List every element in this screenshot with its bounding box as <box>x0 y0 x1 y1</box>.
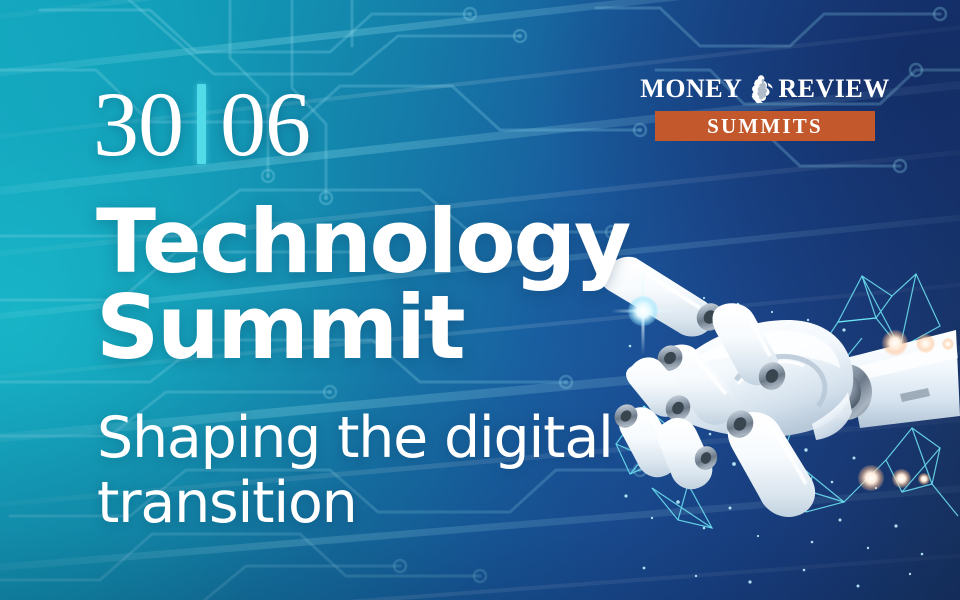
logo-word-review: REVIEW <box>778 76 889 102</box>
event-date: 30 06 <box>93 78 310 170</box>
status-badge: SUMMITS <box>655 111 875 141</box>
event-date-day: 30 <box>93 80 183 168</box>
summits-badge-label: SUMMITS <box>707 116 823 137</box>
title-line-1: Technology <box>96 199 636 285</box>
event-date-month: 06 <box>220 80 310 168</box>
page-title: Technology Summit <box>96 199 636 371</box>
money-review-summits-logo[interactable]: MONEY REVIEW SUMMITS <box>655 72 875 141</box>
subtitle-line-1: Shaping the digital <box>97 406 617 471</box>
page-subtitle: Shaping the digital transition <box>97 406 617 536</box>
promo-banner: 30 06 Technology Summit Shaping the digi… <box>0 0 960 600</box>
title-line-2: Summit <box>96 285 636 371</box>
logo-word-money: MONEY <box>640 76 742 102</box>
logo-wordmark: MONEY REVIEW <box>655 72 875 106</box>
griffin-crest-icon <box>745 73 775 105</box>
date-separator-bar <box>197 84 206 164</box>
subtitle-line-2: transition <box>97 471 617 536</box>
